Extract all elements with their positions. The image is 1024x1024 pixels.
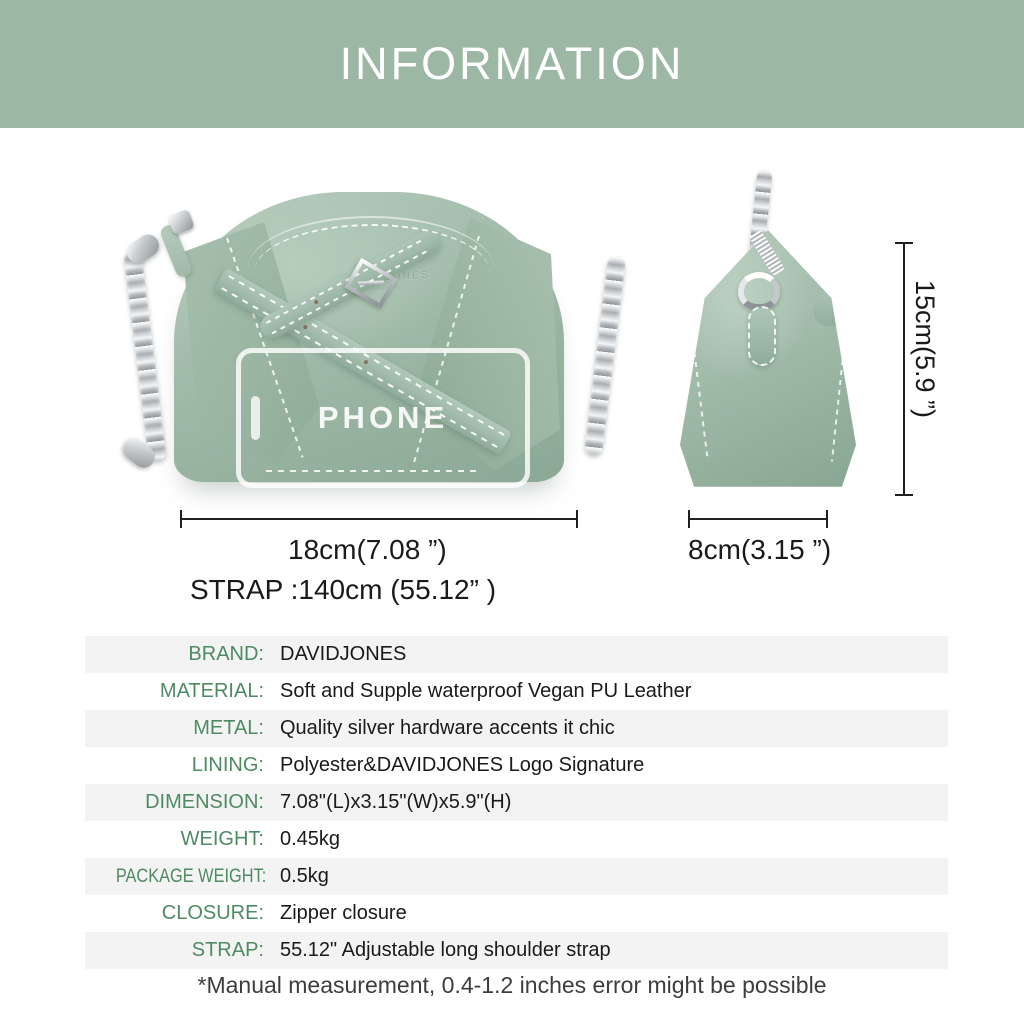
spec-value-strap: 55.12" Adjustable long shoulder strap [280,939,948,962]
bag-front-view: DAVID JONES PARIS PHONE [112,170,622,530]
spec-value-material: Soft and Supple waterproof Vegan PU Leat… [280,680,948,703]
spec-value-closure: Zipper closure [280,902,948,925]
spec-value-brand: DAVIDJONES [280,643,948,666]
spec-value-weight: 0.45kg [280,828,948,851]
phone-speaker-icon [251,396,260,440]
phone-size-overlay: PHONE [236,348,530,488]
bag-side-leather-tab [748,306,776,366]
bag-side-nub [814,292,844,326]
header-band: INFORMATION [0,0,1024,128]
phone-overlay-label: PHONE [318,400,448,436]
dimension-cap [826,510,828,528]
dimension-cap [180,510,182,528]
specification-table: BRAND: DAVIDJONES MATERIAL: Soft and Sup… [85,636,948,969]
table-row: DIMENSION: 7.08"(L)x3.15"(W)x5.9"(H) [85,784,948,821]
page-title: INFORMATION [340,38,685,90]
product-photo-area: DAVID JONES PARIS PHONE [0,128,1024,628]
spec-label-dimension: DIMENSION: [85,791,280,814]
dimension-cap [688,510,690,528]
spec-value-package-weight: 0.5kg [280,865,948,888]
spec-value-metal: Quality silver hardware accents it chic [280,717,948,740]
spec-label-package-weight: PACKAGE WEIGHT: [112,866,280,888]
dimension-cap [895,494,913,496]
table-row: MATERIAL: Soft and Supple waterproof Veg… [85,673,948,710]
d-ring-icon [738,272,780,310]
table-row: CLOSURE: Zipper closure [85,895,948,932]
bag-side-view [660,170,880,530]
dimension-line-width [180,518,578,520]
spec-label-material: MATERIAL: [85,680,280,703]
dimension-label-strap: STRAP :140cm (55.12” ) [190,574,496,606]
table-row: BRAND: DAVIDJONES [85,636,948,673]
spec-label-strap: STRAP: [85,939,280,962]
dimension-label-height: 15cm(5.9 ”) [909,280,940,418]
dimension-label-width: 18cm(7.08 ”) [288,534,447,566]
strap-hole [303,324,308,329]
table-row: STRAP: 55.12" Adjustable long shoulder s… [85,932,948,969]
spec-value-dimension: 7.08"(L)x3.15"(W)x5.9"(H) [280,791,948,814]
dimension-line-height [903,242,905,496]
spec-label-brand: BRAND: [85,643,280,666]
dimension-label-depth: 8cm(3.15 ”) [688,534,831,566]
table-row: LINING: Polyester&DAVIDJONES Logo Signat… [85,747,948,784]
table-row: PACKAGE WEIGHT: 0.5kg [85,858,948,895]
spec-label-closure: CLOSURE: [85,902,280,925]
table-row: METAL: Quality silver hardware accents i… [85,710,948,747]
product-information-infographic: INFORMATION DAVID JONES PARIS [0,0,1024,1024]
table-row: WEIGHT: 0.45kg [85,821,948,858]
strap-hole [314,299,319,304]
spec-label-weight: WEIGHT: [85,828,280,851]
dimension-cap [895,242,913,244]
dimension-cap [576,510,578,528]
chain-strap-right [584,256,626,457]
chain-strap-left [123,250,167,463]
measurement-disclaimer: *Manual measurement, 0.4-1.2 inches erro… [0,972,1024,999]
spec-value-lining: Polyester&DAVIDJONES Logo Signature [280,754,948,777]
dimension-line-depth [688,518,828,520]
buckle-prong [358,281,384,286]
spec-label-metal: METAL: [85,717,280,740]
spec-label-lining: LINING: [85,754,280,777]
